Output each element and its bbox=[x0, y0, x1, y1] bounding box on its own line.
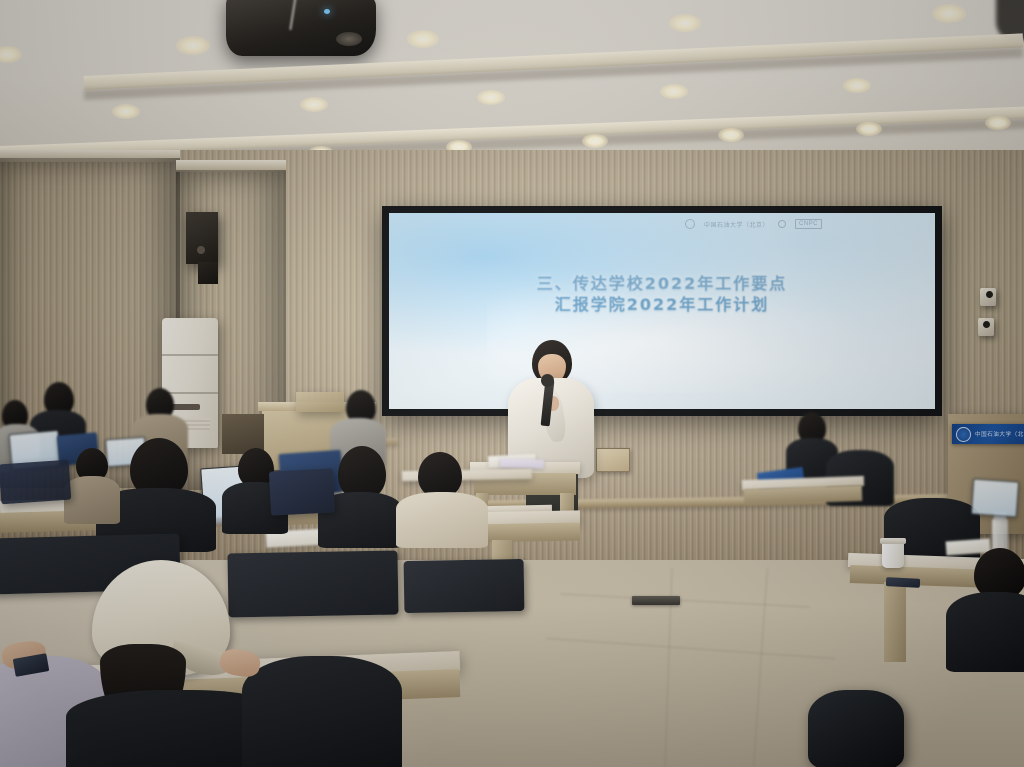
camera-lens-icon bbox=[986, 291, 993, 298]
ac-panel-seam bbox=[162, 354, 218, 356]
podium-banner-text: 中国石油大学（北京）克拉玛依校区 bbox=[975, 430, 1024, 438]
wall-speaker-bracket bbox=[198, 262, 218, 284]
attendee-laptop-screen bbox=[971, 478, 1019, 517]
chair-backrest bbox=[0, 460, 71, 505]
ceiling-downlight bbox=[407, 30, 439, 48]
classroom-photo-scene: 中国石油大学（北京） CNPC 三、传达学校2022年工作要点 汇报学院2022… bbox=[0, 0, 1024, 767]
wall-camera-icon bbox=[978, 318, 994, 336]
microphone-head bbox=[541, 374, 554, 387]
presenter-documents bbox=[500, 458, 544, 469]
university-logo-icon bbox=[685, 219, 695, 229]
projection-screen: 中国石油大学（北京） CNPC 三、传达学校2022年工作要点 汇报学院2022… bbox=[389, 213, 935, 409]
slide-title-line-1: 三、传达学校2022年工作要点 bbox=[389, 273, 935, 294]
slide-title-block: 三、传达学校2022年工作要点 汇报学院2022年工作计划 bbox=[389, 273, 935, 315]
ceiling-downlight bbox=[660, 84, 688, 99]
floor-outlet-box bbox=[632, 596, 680, 605]
attendee-torso bbox=[946, 592, 1024, 672]
ceiling-downlight bbox=[477, 90, 505, 105]
coffee-cup-lid bbox=[880, 538, 906, 544]
ceiling-downlight bbox=[112, 104, 140, 119]
attendee-torso bbox=[396, 492, 488, 548]
partner-logo-box-icon: CNPC bbox=[795, 219, 822, 229]
chair-backrest bbox=[269, 468, 335, 515]
ceiling-downlight bbox=[718, 128, 744, 142]
slide-header-logos: 中国石油大学（北京） CNPC bbox=[685, 219, 822, 229]
projector-lens bbox=[336, 32, 362, 46]
ceiling-downlight bbox=[176, 36, 210, 55]
coffee-cup bbox=[882, 542, 904, 568]
projection-screen-frame: 中国石油大学（北京） CNPC 三、传达学校2022年工作要点 汇报学院2022… bbox=[382, 206, 942, 416]
ceiling-downlight bbox=[985, 116, 1011, 130]
attendee-right-front bbox=[946, 548, 1024, 668]
projector-indicator-light bbox=[324, 9, 330, 14]
ceiling-projector bbox=[226, 0, 376, 56]
ceiling-downlight bbox=[669, 14, 701, 32]
slide-title-line-2: 汇报学院2022年工作计划 bbox=[389, 294, 935, 315]
partner-logo-icon bbox=[778, 220, 786, 228]
wall-speaker bbox=[186, 212, 218, 264]
podium-banner: 中国石油大学（北京）克拉玛依校区 bbox=[952, 424, 1024, 444]
ceiling-downlight bbox=[843, 78, 871, 93]
ceiling-downlight bbox=[932, 4, 966, 23]
smartphone-on-desk bbox=[886, 577, 920, 588]
ceiling-downlight bbox=[300, 97, 328, 112]
camera-lens-icon bbox=[983, 321, 990, 328]
slide-logo-text: 中国石油大学（北京） bbox=[704, 220, 769, 229]
backpack-on-floor bbox=[808, 690, 904, 767]
attendee-mid-5-cream-coat bbox=[396, 452, 488, 544]
attendee-foreground-right bbox=[242, 628, 402, 767]
ceiling-downlight bbox=[582, 134, 608, 148]
wall-speaker-driver bbox=[197, 246, 205, 254]
chair-backrest bbox=[404, 559, 525, 613]
wall-camera-icon bbox=[980, 288, 996, 306]
attendee-mid-2 bbox=[64, 448, 120, 518]
ceiling-downlight bbox=[856, 122, 882, 136]
attendee-torso bbox=[64, 476, 120, 524]
audience-desk-leg bbox=[884, 582, 906, 662]
university-emblem-icon bbox=[956, 427, 971, 442]
attendee-torso bbox=[242, 656, 402, 767]
